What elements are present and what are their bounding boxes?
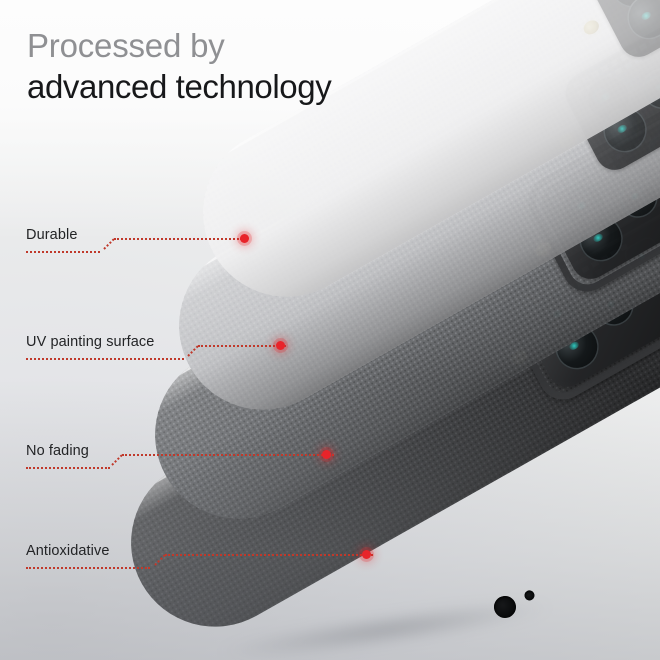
callout-label-uv-painting: UV painting surface — [26, 334, 154, 350]
callout-marker-no-fading[interactable] — [322, 450, 331, 459]
title-line-1: Processed by — [27, 26, 331, 66]
callout-marker-durable[interactable] — [240, 234, 249, 243]
product-feature-graphic: Processed by advanced technology Durable… — [0, 0, 660, 660]
callout-label-antioxidative: Antioxidative — [26, 543, 110, 559]
title-line-2: advanced technology — [27, 66, 331, 108]
page-title: Processed by advanced technology — [27, 26, 331, 108]
callout-marker-uv-painting[interactable] — [276, 341, 285, 350]
callout-label-no-fading: No fading — [26, 443, 89, 459]
callout-label-durable: Durable — [26, 227, 77, 243]
callout-marker-antioxidative[interactable] — [362, 550, 371, 559]
